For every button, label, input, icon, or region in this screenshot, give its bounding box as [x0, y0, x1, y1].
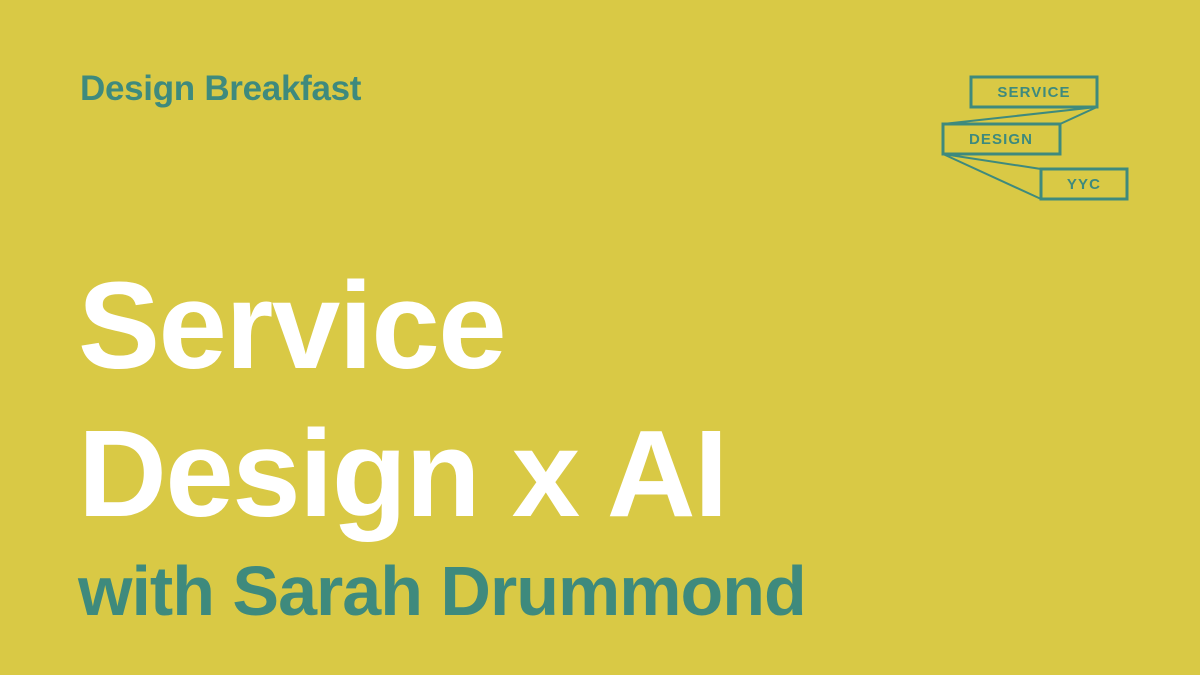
logo-connector-service-design	[943, 107, 1097, 124]
logo-connector-design-yyc	[943, 154, 1041, 199]
service-design-yyc-logo: SERVICE DESIGN YYC	[935, 68, 1135, 208]
logo-box-yyc-label: YYC	[1067, 176, 1101, 193]
logo-svg: SERVICE DESIGN YYC	[935, 68, 1135, 208]
event-series-label: Design Breakfast	[80, 70, 361, 109]
page-title-line-2: Design x AI	[78, 401, 1128, 549]
logo-box-design-label: DESIGN	[969, 131, 1033, 148]
headline-block: Service Design x AI with Sarah Drummond	[78, 253, 1128, 637]
slide-root: Design Breakfast SERVICE DESIGN YYC Serv…	[0, 0, 1200, 675]
page-title-line-1: Service	[78, 253, 1128, 401]
logo-box-service-label: SERVICE	[997, 84, 1070, 101]
page-subtitle-speaker: with Sarah Drummond	[78, 545, 1128, 637]
